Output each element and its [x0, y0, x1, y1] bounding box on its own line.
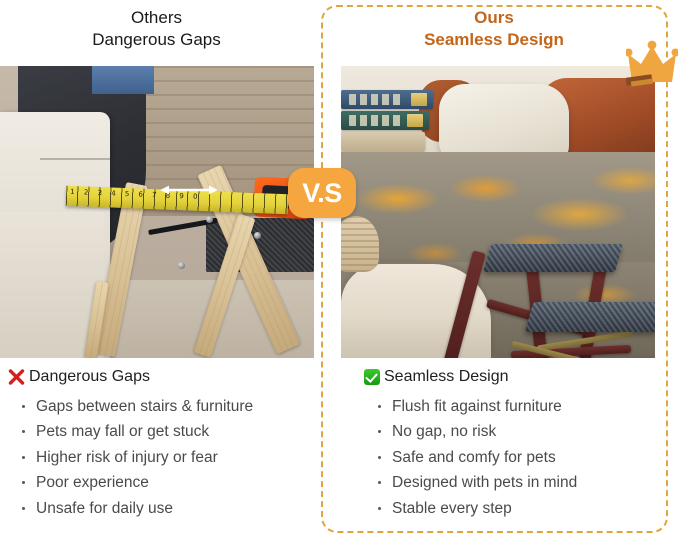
- list-item: Designed with pets in mind: [378, 470, 664, 495]
- book-band: [407, 114, 423, 127]
- list-item: Stable every step: [378, 496, 664, 521]
- left-column-header: Others Dangerous Gaps: [0, 7, 313, 52]
- left-header-line2: Dangerous Gaps: [0, 29, 313, 51]
- left-summary-row: Dangerous Gaps: [8, 368, 314, 386]
- list-item: Poor experience: [22, 470, 314, 495]
- green-check-icon: [364, 369, 380, 385]
- blue-accent: [92, 66, 154, 94]
- vs-badge-label: V.S: [302, 180, 342, 207]
- stair-tread-2: [525, 302, 655, 332]
- right-product-photo: [341, 66, 655, 358]
- right-summary-row: Seamless Design: [364, 368, 664, 386]
- comparison-infographic: Others Dangerous Gaps Ours Seamless Desi…: [0, 0, 679, 539]
- screw-3: [254, 232, 261, 239]
- left-feature-list: Gaps between stairs & furniture Pets may…: [8, 394, 314, 521]
- gap-measure-arrow: [160, 184, 218, 196]
- vs-badge: V.S: [288, 168, 356, 218]
- book-3: [341, 132, 425, 151]
- right-header-line1: Ours: [333, 7, 655, 29]
- list-item: Pets may fall or get stuck: [22, 419, 314, 444]
- book-title-lines: [349, 115, 401, 126]
- book-2: [341, 111, 429, 130]
- list-item: Gaps between stairs & furniture: [22, 394, 314, 419]
- crown-icon: [626, 38, 678, 90]
- list-item: No gap, no risk: [378, 419, 664, 444]
- left-summary-label: Dangerous Gaps: [29, 368, 150, 386]
- book-stack: [341, 90, 439, 150]
- right-column-header: Ours Seamless Design: [333, 7, 655, 52]
- screw-1: [206, 216, 213, 223]
- left-feature-block: Dangerous Gaps Gaps between stairs & fur…: [8, 368, 314, 521]
- screw-2: [178, 262, 185, 269]
- left-header-line1: Others: [0, 7, 313, 29]
- red-x-icon: [8, 369, 25, 386]
- mattress-seam: [40, 158, 110, 160]
- right-feature-block: Seamless Design Flush fit against furnit…: [364, 368, 664, 521]
- list-item: Safe and comfy for pets: [378, 445, 664, 470]
- right-header-line2: Seamless Design: [333, 29, 655, 51]
- list-item: Higher risk of injury or fear: [22, 445, 314, 470]
- right-summary-label: Seamless Design: [384, 368, 509, 386]
- book-band: [411, 93, 427, 106]
- left-product-photo: 1234567890: [0, 66, 314, 358]
- list-item: Unsafe for daily use: [22, 496, 314, 521]
- book-1: [341, 90, 433, 109]
- stair-tread-1: [483, 244, 623, 272]
- list-item: Flush fit against furniture: [378, 394, 664, 419]
- book-title-lines: [349, 94, 401, 105]
- right-feature-list: Flush fit against furniture No gap, no r…: [364, 394, 664, 521]
